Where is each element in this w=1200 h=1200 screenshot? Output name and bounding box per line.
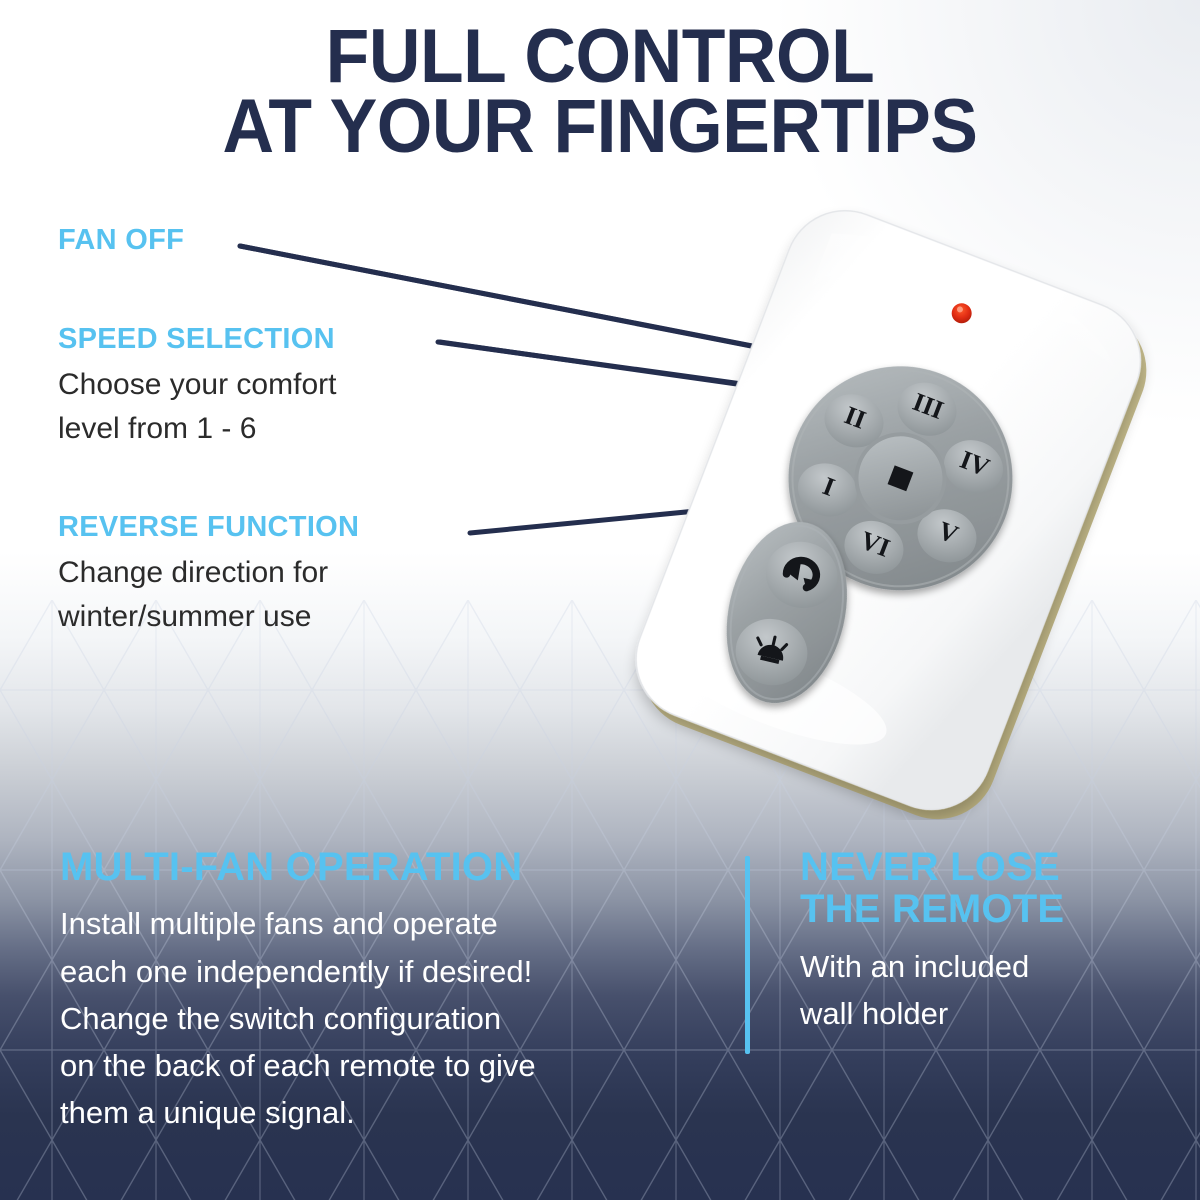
panel-multi-fan-body-line-5: them a unique signal. bbox=[60, 1089, 720, 1136]
remote-control-image: III IV V VI bbox=[600, 180, 1180, 820]
panel-never-lose-remote-title: NEVER LOSE THE REMOTE bbox=[800, 846, 1180, 931]
callout-reverse-function: REVERSE FUNCTION Change direction for wi… bbox=[58, 513, 528, 638]
callout-speed-selection: SPEED SELECTION Choose your comfort leve… bbox=[58, 325, 528, 450]
panel-multi-fan-body-line-2: each one independently if desired! bbox=[60, 948, 720, 995]
callout-fan-off-title: FAN OFF bbox=[58, 226, 528, 255]
callout-speed-selection-body-line-2: level from 1 - 6 bbox=[58, 407, 528, 451]
panel-never-lose-remote: NEVER LOSE THE REMOTE With an included w… bbox=[800, 846, 1180, 1037]
infographic-page: FULL CONTROL AT YOUR FINGERTIPS FAN OFF … bbox=[0, 0, 1200, 1200]
panel-multi-fan-body-line-4: on the back of each remote to give bbox=[60, 1042, 720, 1089]
callout-reverse-function-body: Change direction for winter/summer use bbox=[58, 551, 528, 638]
panel-never-lose-remote-title-line-2: THE REMOTE bbox=[800, 888, 1180, 930]
panel-multi-fan-body-line-1: Install multiple fans and operate bbox=[60, 900, 720, 947]
panel-never-lose-remote-body-line-2: wall holder bbox=[800, 990, 1180, 1037]
panel-multi-fan-operation: MULTI-FAN OPERATION Install multiple fan… bbox=[60, 846, 720, 1136]
page-title: FULL CONTROL AT YOUR FINGERTIPS bbox=[36, 22, 1164, 162]
panel-never-lose-remote-title-line-1: NEVER LOSE bbox=[800, 846, 1180, 888]
callout-reverse-function-body-line-1: Change direction for bbox=[58, 551, 528, 595]
panel-never-lose-remote-body-line-1: With an included bbox=[800, 943, 1180, 990]
page-title-line-2: AT YOUR FINGERTIPS bbox=[36, 92, 1164, 162]
panel-multi-fan-operation-body: Install multiple fans and operate each o… bbox=[60, 900, 720, 1136]
panel-divider bbox=[745, 856, 750, 1054]
callout-reverse-function-title: REVERSE FUNCTION bbox=[58, 513, 528, 542]
callout-fan-off: FAN OFF bbox=[58, 226, 528, 255]
callout-speed-selection-title: SPEED SELECTION bbox=[58, 325, 528, 354]
panel-multi-fan-operation-title: MULTI-FAN OPERATION bbox=[60, 846, 720, 888]
page-title-line-1: FULL CONTROL bbox=[36, 22, 1164, 92]
callout-speed-selection-body-line-1: Choose your comfort bbox=[58, 363, 528, 407]
panel-never-lose-remote-body: With an included wall holder bbox=[800, 943, 1180, 1037]
callout-speed-selection-body: Choose your comfort level from 1 - 6 bbox=[58, 363, 528, 450]
panel-multi-fan-body-line-3: Change the switch configuration bbox=[60, 995, 720, 1042]
callout-reverse-function-body-line-2: winter/summer use bbox=[58, 595, 528, 639]
